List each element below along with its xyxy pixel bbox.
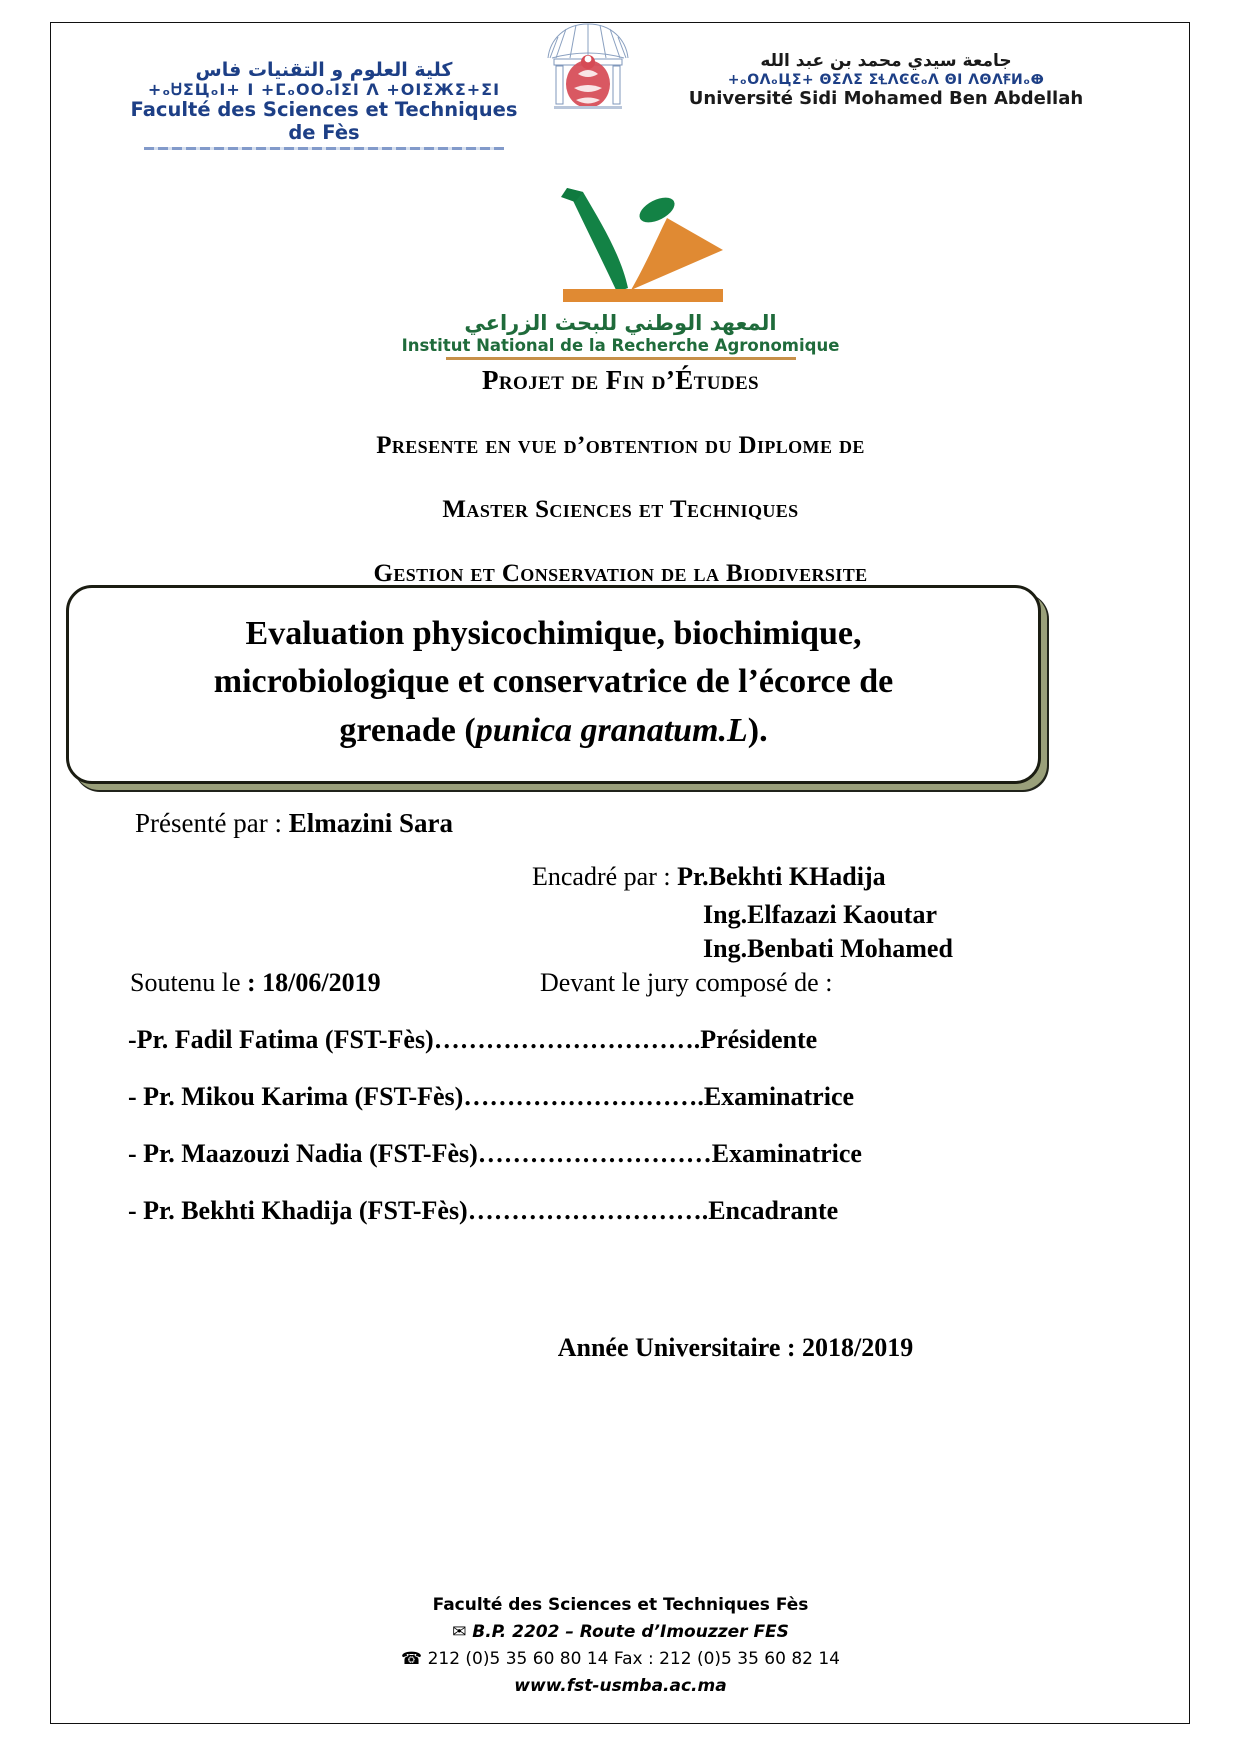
title-species-name: punica granatum.L: [476, 712, 748, 749]
presented-by-label: Présenté par :: [135, 808, 289, 838]
thesis-title-box: Evaluation physicochimique, biochimique,…: [66, 585, 1041, 784]
usmba-tifinagh-name: +ₒOΛₒЦΣ+ ΘΣΛΣ ΣꞭΛϾϾₒΛ ΘI ΛΘΛꞘИₒⴲ: [656, 72, 1116, 89]
footer-phone-row: ☎ 212 (0)5 35 60 80 14 Fax : 212 (0)5 35…: [0, 1649, 1241, 1669]
title-line-3-prefix: grenade (: [339, 712, 475, 749]
supervisor-name-2: Ing.Elfazazi Kaoutar: [703, 900, 937, 930]
defense-date-value: : 18/06/2019: [247, 968, 381, 997]
defense-date-label: Soutenu le: [130, 968, 247, 997]
jury-member-3: - Pr. Maazouzi Nadia (FST-Fès)………………………E…: [128, 1139, 1108, 1169]
fst-logo: كلية العلوم و التقنيات فاس +ₒᏌΣЦₒI+ I +ⵎ…: [124, 8, 524, 150]
page-footer: Faculté des Sciences et Techniques Fès ✉…: [0, 1595, 1241, 1696]
footer-address-row: ✉ B.P. 2202 – Route d’Imouzzer FES: [0, 1622, 1241, 1642]
title-line-1: Evaluation physicochimique, biochimique,: [103, 610, 1004, 658]
presented-by-row: Présenté par : Elmazini Sara: [135, 808, 453, 839]
supervisor-name-1: Pr.Bekhti KHadija: [677, 862, 886, 891]
supervised-by-label: Encadré par :: [532, 862, 677, 891]
heading-master-sciences-techniques: Master Sciences et Techniques: [0, 496, 1241, 524]
degree-headings: Projet de Fin d’Études Presente en vue d…: [0, 365, 1241, 588]
fst-tifinagh-name: +ₒᏌΣЦₒI+ I +ⵎₒOOₒIΣI Λ +OIΣЖΣ+ΣI: [124, 81, 524, 99]
inra-logo: المعهد الوطني للبحث الزراعي Institut Nat…: [0, 170, 1241, 360]
supervised-by-row: Encadré par : Pr.Bekhti KHadija: [532, 862, 886, 892]
title-line-2: microbiologique et conservatrice de l’éc…: [103, 658, 1004, 706]
fst-rule: [144, 147, 504, 150]
defense-date-row: Soutenu le : 18/06/2019: [130, 968, 381, 998]
usmba-arabic-name: جامعة سيدي محمد بن عبد الله: [656, 52, 1116, 72]
student-name: Elmazini Sara: [289, 808, 453, 838]
footer-institution: Faculté des Sciences et Techniques Fès: [0, 1595, 1241, 1615]
thesis-cover-page: كلية العلوم و التقنيات فاس +ₒᏌΣЦₒI+ I +ⵎ…: [0, 0, 1241, 1754]
header-logos: كلية العلوم و التقنيات فاس +ₒᏌΣЦₒI+ I +ⵎ…: [60, 8, 1180, 138]
academic-year: Année Universitaire : 2018/2019: [0, 1333, 1241, 1363]
jury-label: Devant le jury composé de :: [540, 968, 832, 998]
footer-phone: 212 (0)5 35 60 80 14 Fax : 212 (0)5 35 6…: [428, 1649, 840, 1669]
phone-icon: ☎: [401, 1649, 422, 1669]
jury-list: -Pr. Fadil Fatima (FST-Fès)………………………….Pr…: [128, 1025, 1108, 1253]
inra-rule: [446, 357, 796, 360]
footer-website: www.fst-usmba.ac.ma: [0, 1676, 1241, 1696]
inra-plant-icon: [471, 170, 771, 310]
heading-presente-en-vue: Presente en vue d’obtention du Diplome d…: [0, 432, 1241, 460]
mail-icon: ✉: [452, 1622, 466, 1642]
fst-arabic-name: كلية العلوم و التقنيات فاس: [124, 60, 524, 81]
inra-french-name: Institut National de la Recherche Agrono…: [0, 336, 1241, 355]
footer-address: B.P. 2202 – Route d’Imouzzer FES: [472, 1622, 789, 1642]
fst-french-name: Faculté des Sciences et Techniques de Fè…: [124, 99, 524, 144]
jury-member-4: - Pr. Bekhti Khadija (FST-Fès)……………………….…: [128, 1196, 1108, 1226]
usmba-crest: [542, 8, 638, 116]
usmba-french-name: Université Sidi Mohamed Ben Abdellah: [656, 88, 1116, 110]
usmba-logo: جامعة سيدي محمد بن عبد الله +ₒOΛₒЦΣ+ ΘΣΛ…: [656, 8, 1116, 110]
jury-member-1: -Pr. Fadil Fatima (FST-Fès)………………………….Pr…: [128, 1025, 1108, 1055]
heading-gestion-conservation-biodiversite: Gestion et Conservation de la Biodiversi…: [0, 560, 1241, 588]
jury-member-2: - Pr. Mikou Karima (FST-Fès)……………………….Ex…: [128, 1082, 1108, 1112]
title-line-3-suffix: ).: [748, 712, 768, 749]
inra-arabic-name: المعهد الوطني للبحث الزراعي: [0, 311, 1241, 335]
supervisor-name-3: Ing.Benbati Mohamed: [703, 934, 953, 964]
heading-projet-fin-etudes: Projet de Fin d’Études: [0, 365, 1241, 396]
title-line-3: grenade (punica granatum.L).: [103, 707, 1004, 755]
